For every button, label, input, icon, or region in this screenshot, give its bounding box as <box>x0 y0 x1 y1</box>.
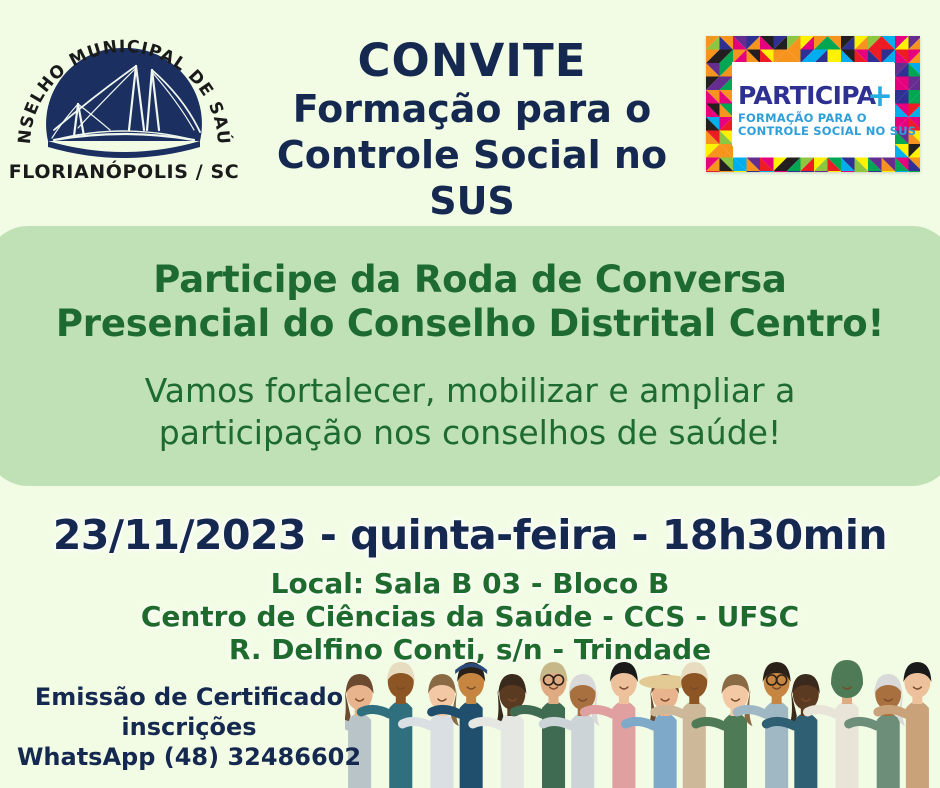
poster-title: CONVITE Formação para o Controle Social … <box>236 36 708 224</box>
cms-logo-city-text: FLORIANÓPOLIS / SC <box>9 159 240 183</box>
banner-body-line1: Vamos fortalecer, mobilizar e ampliar a <box>10 370 930 412</box>
diverse-group-illustration <box>345 658 940 788</box>
banner-heading-line1: Participe da Roda de Conversa <box>10 258 930 302</box>
title-formacao: Formação para o <box>236 86 708 132</box>
poster-root: CONSELHO MUNICIPAL DE SAÚDE FLORIANÓPOLI… <box>0 0 940 788</box>
title-controle-social: Controle Social no SUS <box>236 132 708 224</box>
location-room: Local: Sala B 03 - Bloco B <box>0 567 940 600</box>
conselho-municipal-de-saude-logo: CONSELHO MUNICIPAL DE SAÚDE FLORIANÓPOLI… <box>8 18 240 196</box>
participa-subtitle-line1: FORMAÇÃO PARA O <box>738 110 867 125</box>
participa-plus-icon: + <box>867 78 893 114</box>
banner-body-line2: participação nos conselhos de saúde! <box>10 412 930 454</box>
participa-wordmark: PARTICIPA <box>738 81 877 110</box>
contact-line-certificado: Emissão de Certificado <box>14 682 364 712</box>
participa-subtitle-line2: CONTROLE SOCIAL NO SUS <box>738 124 916 138</box>
event-location: Local: Sala B 03 - Bloco B Centro de Ciê… <box>0 567 940 666</box>
header: CONSELHO MUNICIPAL DE SAÚDE FLORIANÓPOLI… <box>0 0 940 226</box>
contact-line-inscricoes: inscrições <box>14 712 364 742</box>
green-banner: Participe da Roda de Conversa Presencial… <box>0 226 940 486</box>
event-date-time: 23/11/2023 - quinta-feira - 18h30min <box>0 511 940 559</box>
banner-heading-line2: Presencial do Conselho Distrital Centro! <box>10 302 930 346</box>
participa-mais-logo: PARTICIPA + FORMAÇÃO PARA O CONTROLE SOC… <box>706 36 920 172</box>
location-building: Centro de Ciências da Saúde - CCS - UFSC <box>0 600 940 633</box>
contact-line-whatsapp[interactable]: WhatsApp (48) 32486602 <box>14 742 364 772</box>
contact-info: Emissão de Certificado inscrições WhatsA… <box>14 682 364 772</box>
title-convite: CONVITE <box>236 36 708 86</box>
